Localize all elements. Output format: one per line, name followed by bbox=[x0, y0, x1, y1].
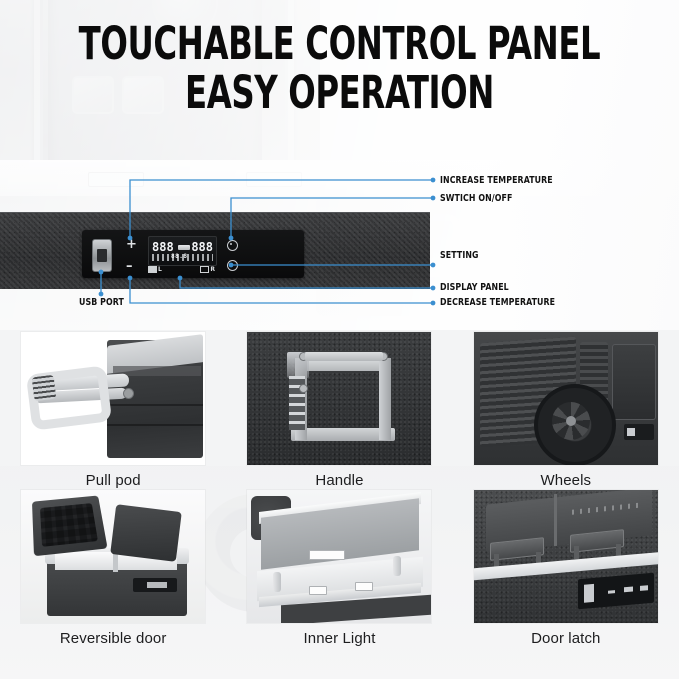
feature-tiles: Pull pod Handle bbox=[0, 326, 679, 679]
reversible-door-illustration bbox=[21, 490, 205, 623]
feature-thumb-door-latch bbox=[474, 490, 658, 623]
feature-caption-pull-pod: Pull pod bbox=[86, 472, 141, 489]
feature-tile-handle[interactable]: Handle bbox=[226, 332, 452, 489]
title-line-1: TOUCHABLE CONTROL PANEL bbox=[68, 22, 611, 65]
feature-thumb-pull-pod bbox=[21, 332, 205, 465]
feature-tile-door-latch[interactable]: Door latch bbox=[453, 490, 679, 647]
feature-row-1: Pull pod Handle bbox=[0, 332, 679, 489]
feature-tile-reversible-door[interactable]: Reversible door bbox=[0, 490, 226, 647]
callout-label-display-panel: DISPLAY PANEL bbox=[440, 282, 509, 293]
feature-thumb-inner-light bbox=[247, 490, 431, 623]
callout-label-increase-temperature: INCREASE TEMPERATURE bbox=[440, 175, 553, 186]
callout-labels: INCREASE TEMPERATURE SWTICH ON/OFF SETTI… bbox=[0, 160, 679, 325]
inner-light-illustration bbox=[247, 490, 431, 623]
feature-caption-handle: Handle bbox=[315, 472, 363, 489]
feature-caption-reversible-door: Reversible door bbox=[60, 630, 167, 647]
feature-thumb-handle bbox=[247, 332, 431, 465]
feature-caption-door-latch: Door latch bbox=[531, 630, 600, 647]
title-line-2: EASY OPERATION bbox=[68, 71, 611, 114]
feature-row-2: Reversible door bbox=[0, 490, 679, 647]
feature-tile-wheels[interactable]: Wheels bbox=[453, 332, 679, 489]
callout-label-setting: SETTING bbox=[440, 250, 479, 261]
feature-caption-inner-light: Inner Light bbox=[304, 630, 376, 647]
pull-pod-illustration bbox=[21, 332, 205, 465]
callout-label-decrease-temperature: DECREASE TEMPERATURE bbox=[440, 297, 555, 308]
page-title: TOUCHABLE CONTROL PANEL EASY OPERATION bbox=[0, 22, 679, 114]
feature-thumb-reversible-door bbox=[21, 490, 205, 623]
callout-label-usb-port: USB PORT bbox=[79, 297, 124, 308]
infographic-page: TOUCHABLE CONTROL PANEL EASY OPERATION +… bbox=[0, 0, 679, 679]
feature-caption-wheels: Wheels bbox=[541, 472, 592, 489]
feature-thumb-wheels bbox=[474, 332, 658, 465]
feature-tile-pull-pod[interactable]: Pull pod bbox=[0, 332, 226, 489]
door-latch-illustration bbox=[474, 490, 658, 623]
feature-tile-inner-light[interactable]: Inner Light bbox=[226, 490, 452, 647]
handle-illustration bbox=[247, 332, 431, 465]
callout-label-switch-on-off: SWTICH ON/OFF bbox=[440, 193, 512, 204]
wheels-illustration bbox=[474, 332, 658, 465]
